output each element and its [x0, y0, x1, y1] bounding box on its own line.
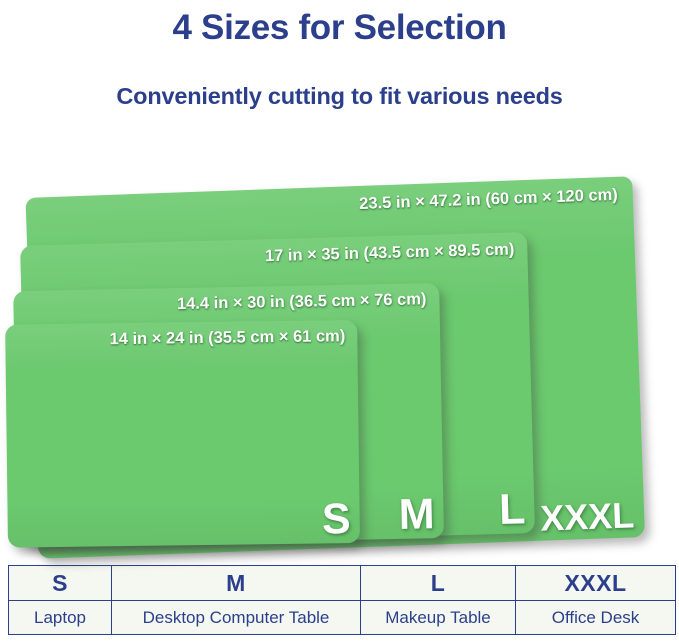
table-cell-size-s: S: [9, 566, 112, 601]
mat-m-dimensions: 14.4 in × 30 in (36.5 cm × 76 cm): [177, 289, 427, 314]
table-cell-use-l: Makeup Table: [361, 601, 516, 635]
table-cell-size-l: L: [361, 566, 516, 601]
mat-xxxl-dimensions: 23.5 in × 47.2 in (60 cm × 120 cm): [359, 185, 618, 214]
mat-s-size-label: S: [322, 497, 351, 542]
size-usage-table: S M L XXXL Laptop Desktop Computer Table…: [8, 565, 676, 635]
mat-m-size-label: M: [398, 492, 435, 538]
mat-s: 14 in × 24 in (35.5 cm × 61 cm) S: [5, 320, 360, 548]
table-cell-size-m: M: [112, 566, 361, 601]
table-cell-use-xxxl: Office Desk: [516, 601, 676, 635]
table-row-uses: Laptop Desktop Computer Table Makeup Tab…: [9, 601, 676, 635]
table-cell-use-s: Laptop: [9, 601, 112, 635]
mat-l-dimensions: 17 in × 35 in (43.5 cm × 89.5 cm): [265, 239, 515, 266]
mat-xxxl-size-label: XXXL: [540, 496, 635, 537]
mat-s-dimensions: 14 in × 24 in (35.5 cm × 61 cm): [109, 326, 345, 349]
mat-stack: 23.5 in × 47.2 in (60 cm × 120 cm) XXXL …: [0, 0, 679, 560]
table-row-sizes: S M L XXXL: [9, 566, 676, 601]
mat-l-size-label: L: [498, 487, 525, 533]
table-cell-size-xxxl: XXXL: [516, 566, 676, 601]
table-cell-use-m: Desktop Computer Table: [112, 601, 361, 635]
